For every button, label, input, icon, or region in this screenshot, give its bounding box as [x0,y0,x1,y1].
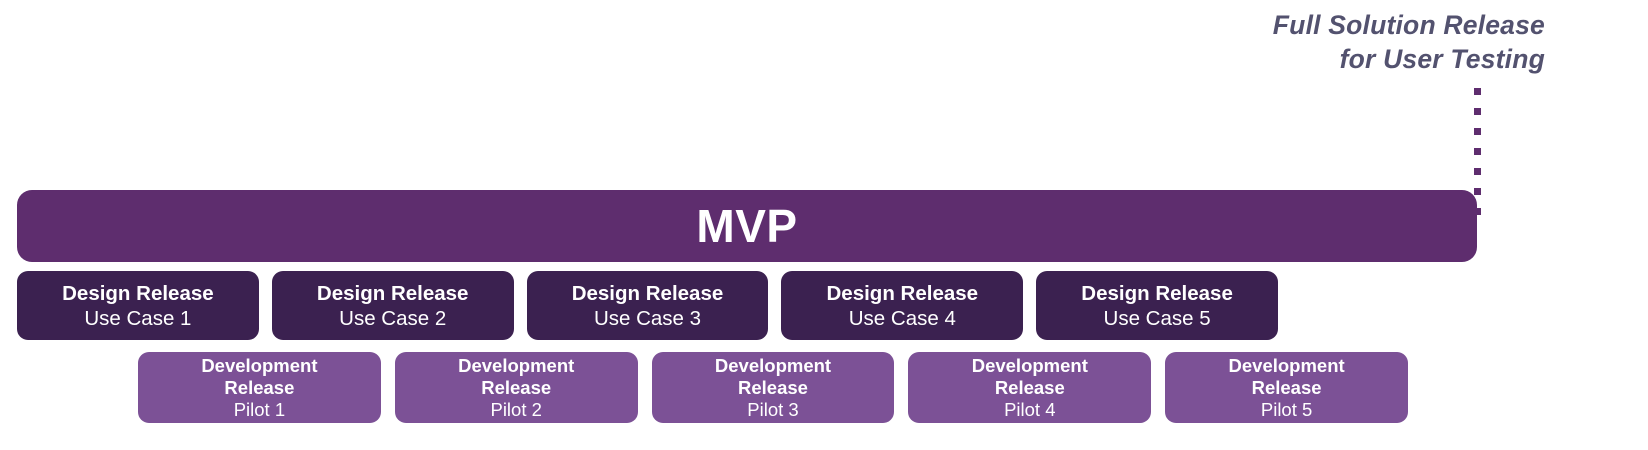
development-release-subtitle: Pilot 1 [234,399,285,421]
development-release-box[interactable]: Development Release Pilot 4 [908,352,1151,423]
design-release-title: Design Release [317,281,469,306]
connector-dot [1474,88,1481,95]
design-release-subtitle: Use Case 3 [594,306,701,331]
design-release-subtitle: Use Case 4 [849,306,956,331]
design-release-box[interactable]: Design Release Use Case 2 [272,271,514,340]
mvp-label: MVP [696,203,797,249]
development-release-title: Development Release [972,355,1088,399]
development-release-box[interactable]: Development Release Pilot 5 [1165,352,1408,423]
design-release-title: Design Release [572,281,724,306]
design-release-box[interactable]: Design Release Use Case 1 [17,271,259,340]
connector-dot [1474,168,1481,175]
design-release-title: Design Release [1081,281,1233,306]
design-release-box[interactable]: Design Release Use Case 5 [1036,271,1278,340]
design-release-subtitle: Use Case 5 [1104,306,1211,331]
development-release-box[interactable]: Development Release Pilot 1 [138,352,381,423]
design-release-subtitle: Use Case 1 [84,306,191,331]
mvp-bar[interactable]: MVP [17,190,1477,262]
dotted-connector-line [1474,88,1482,216]
design-release-row: Design Release Use Case 1 Design Release… [17,271,1278,340]
design-release-title: Design Release [827,281,979,306]
development-release-subtitle: Pilot 5 [1261,399,1312,421]
connector-dot [1474,128,1481,135]
development-release-title: Development Release [715,355,831,399]
development-release-title: Development Release [201,355,317,399]
development-release-box[interactable]: Development Release Pilot 2 [395,352,638,423]
connector-dot [1474,188,1481,195]
development-release-subtitle: Pilot 4 [1004,399,1055,421]
design-release-subtitle: Use Case 2 [339,306,446,331]
connector-dot [1474,148,1481,155]
development-release-row: Development Release Pilot 1 Development … [138,352,1408,423]
release-roadmap-diagram: Full Solution Release for User Testing M… [0,0,1648,450]
development-release-subtitle: Pilot 2 [490,399,541,421]
design-release-box[interactable]: Design Release Use Case 4 [781,271,1023,340]
development-release-subtitle: Pilot 3 [747,399,798,421]
development-release-box[interactable]: Development Release Pilot 3 [652,352,895,423]
connector-dot [1474,108,1481,115]
development-release-title: Development Release [458,355,574,399]
design-release-box[interactable]: Design Release Use Case 3 [527,271,769,340]
development-release-title: Development Release [1229,355,1345,399]
full-solution-release-annotation: Full Solution Release for User Testing [1125,8,1545,76]
design-release-title: Design Release [62,281,214,306]
